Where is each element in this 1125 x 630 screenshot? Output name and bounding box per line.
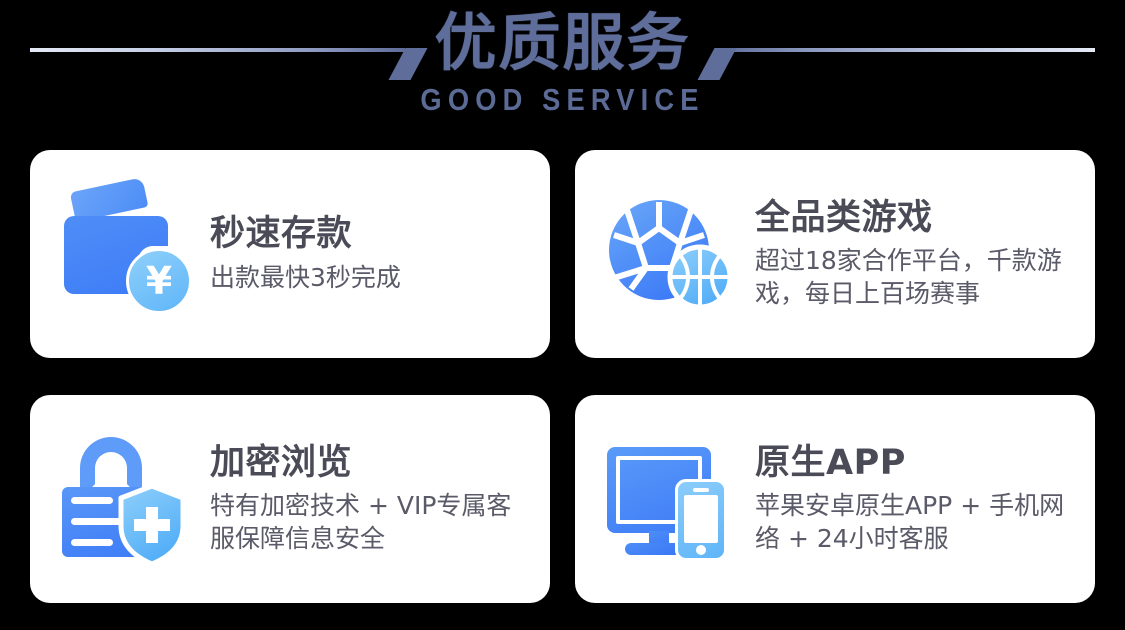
basketball-icon xyxy=(667,244,733,310)
mobile-phone-icon xyxy=(675,479,727,561)
card-description: 超过18家合作平台，千款游戏，每日上百场赛事 xyxy=(755,244,1073,310)
header-text-block: 优质服务 GOOD SERVICE xyxy=(0,0,1125,118)
phone-speaker-shape xyxy=(693,488,709,492)
page-title: 优质服务 xyxy=(0,0,1125,74)
shield-plus-icon xyxy=(116,483,188,567)
feature-card-all-category-games[interactable]: 全品类游戏 超过18家合作平台，千款游戏，每日上百场赛事 xyxy=(575,150,1095,358)
yen-coin-icon: ¥ xyxy=(126,248,192,314)
feature-card-instant-deposit[interactable]: ¥ 秒速存款 出款最快3秒完成 xyxy=(30,150,550,358)
feature-card-text: 原生APP 苹果安卓原生APP + 手机网络 + 24小时客服 xyxy=(755,443,1073,555)
card-description: 苹果安卓原生APP + 手机网络 + 24小时客服 xyxy=(755,489,1073,555)
phone-screen-shape xyxy=(684,495,718,543)
phone-home-button xyxy=(696,545,706,555)
card-description: 出款最快3秒完成 xyxy=(210,261,528,294)
lock-slot-1 xyxy=(71,497,113,504)
lock-shield-icon xyxy=(60,431,196,567)
card-title: 加密浏览 xyxy=(210,443,528,483)
feature-card-grid: ¥ 秒速存款 出款最快3秒完成 xyxy=(30,150,1095,603)
card-title: 原生APP xyxy=(755,443,1073,483)
wallet-coin-icon: ¥ xyxy=(60,186,196,322)
card-description: 特有加密技术 + VIP专属客服保障信息安全 xyxy=(210,489,528,555)
feature-card-text: 秒速存款 出款最快3秒完成 xyxy=(210,214,528,293)
page-header: 优质服务 GOOD SERVICE xyxy=(0,0,1125,150)
feature-card-text: 全品类游戏 超过18家合作平台，千款游戏，每日上百场赛事 xyxy=(755,198,1073,310)
yen-symbol: ¥ xyxy=(146,262,172,300)
feature-card-native-app[interactable]: 原生APP 苹果安卓原生APP + 手机网络 + 24小时客服 xyxy=(575,395,1095,603)
monitor-phone-icon xyxy=(605,431,741,567)
card-title: 全品类游戏 xyxy=(755,198,1073,238)
feature-card-text: 加密浏览 特有加密技术 + VIP专属客服保障信息安全 xyxy=(210,443,528,555)
card-title: 秒速存款 xyxy=(210,214,528,254)
page-subtitle: GOOD SERVICE xyxy=(68,74,1058,118)
soccer-basketball-icon xyxy=(605,186,741,322)
feature-card-encrypted-browsing[interactable]: 加密浏览 特有加密技术 + VIP专属客服保障信息安全 xyxy=(30,395,550,603)
lock-slot-3 xyxy=(71,539,113,546)
